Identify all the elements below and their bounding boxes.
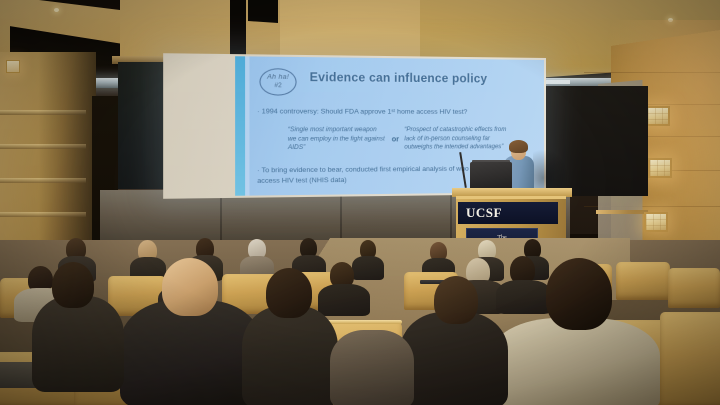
auditorium-seat[interactable] (668, 268, 720, 308)
audience-shoulders (330, 330, 414, 405)
audience-shoulders (496, 280, 552, 314)
slide-quote-row: “Single most important weapon we can emp… (288, 126, 536, 153)
ceiling-downlight-icon (54, 8, 59, 12)
audience-shoulders (352, 256, 384, 280)
slide-bullet-1-text: 1994 controversy: Should FDA approve 1ˢᵗ… (262, 108, 468, 116)
wall-sconce-icon (6, 60, 20, 73)
auditorium-seat[interactable] (660, 312, 720, 405)
ucsf-logo-text: UCSF (466, 205, 502, 221)
audience-shoulders (242, 306, 338, 405)
slide-title: Evidence can influence policy (310, 72, 488, 86)
slide-quote-right: “Prospect of catastrophic effects from l… (404, 126, 515, 153)
panel-divider (596, 210, 648, 214)
lecture-hall-photo: Ah ha! #2 Evidence can influence policy … (0, 0, 720, 405)
ceiling-downlight-icon (668, 18, 673, 22)
slide-quote-connector: or (392, 126, 399, 143)
wall-sconce-icon (648, 158, 672, 178)
wall-sconce-icon (646, 106, 670, 126)
audience-head (52, 262, 94, 308)
auditorium-seat[interactable] (616, 262, 670, 300)
audience-shoulders (490, 318, 660, 405)
audience-shoulders (32, 296, 124, 392)
presenter-hair (509, 140, 528, 153)
wall-sconce-icon (644, 212, 668, 232)
audience-head (266, 268, 312, 318)
ah-ha-badge-icon: Ah ha! #2 (259, 68, 296, 96)
slide-accent-stripe-light (245, 56, 249, 195)
slide-quote-left: “Single most important weapon we can emp… (288, 126, 387, 153)
laptop-icon (470, 162, 512, 190)
slide-accent-stripe (235, 56, 245, 196)
slide-bullet-1: · 1994 controversy: Should FDA approve 1… (257, 107, 532, 118)
audience-shoulders (318, 284, 370, 316)
badge-line-2: #2 (274, 83, 281, 89)
ceiling-slot-left (248, 0, 278, 23)
ucsf-banner: UCSF (458, 202, 558, 224)
audience-shoulders (400, 312, 508, 405)
audience-head (162, 258, 218, 316)
audience-head (546, 258, 612, 330)
audience-head (434, 276, 478, 324)
badge-line-1: Ah ha! (267, 74, 289, 81)
